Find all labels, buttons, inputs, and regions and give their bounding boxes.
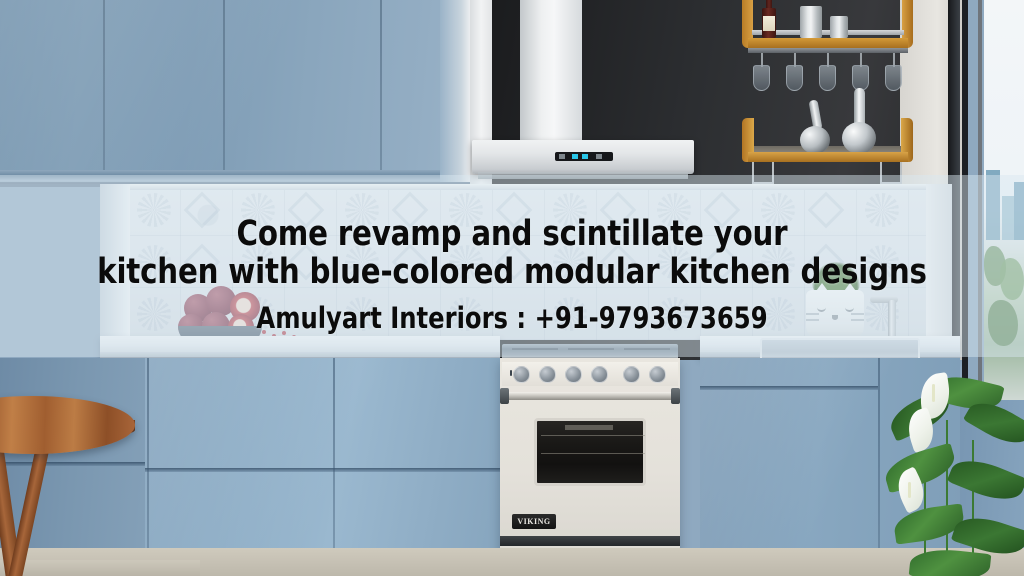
chrome-vase — [842, 122, 876, 154]
kitchen-banner-scene: VIKING Come revamp and scintillate your … — [0, 0, 1024, 576]
metal-canister-small — [830, 16, 848, 38]
shelf-hook — [900, 162, 902, 184]
vase-shelf-board — [748, 152, 908, 162]
viking-badge-text: VIKING — [517, 517, 550, 526]
hood-led-indicator — [596, 154, 602, 159]
burner-knob-mark — [510, 370, 512, 376]
upper-cabinets[interactable] — [0, 0, 470, 182]
headline-line-1: Come revamp and scintillate your — [36, 216, 988, 252]
burner-knob[interactable] — [591, 366, 608, 383]
contact-line: Amulyart Interiors : +91-9793673659 — [36, 301, 988, 335]
floor-left — [0, 560, 200, 576]
wine-glass — [885, 65, 902, 91]
viking-brand-badge: VIKING — [512, 514, 556, 529]
wine-glass — [753, 65, 770, 91]
oven-door-handle[interactable] — [500, 392, 680, 400]
chrome-vase — [800, 126, 830, 154]
window-mullion-dark — [962, 0, 968, 400]
handle-end-cap-left — [500, 388, 509, 404]
window-mullion — [978, 0, 982, 400]
wine-bottle-label — [763, 16, 775, 31]
handle-end-cap-right — [671, 388, 680, 404]
headline-line-2: kitchen with blue-colored modular kitche… — [36, 254, 988, 290]
burner-knob[interactable] — [539, 366, 556, 383]
backsplash-top-ledge — [128, 184, 928, 190]
range-hood-chimney — [520, 0, 582, 140]
oven-bottom-drawer-gap — [500, 536, 680, 546]
hood-led-indicator — [572, 154, 578, 159]
burner-knob[interactable] — [623, 366, 640, 383]
hood-led-indicator — [582, 154, 588, 159]
shelf-hook — [880, 162, 882, 184]
cabinet-end-panel — [440, 0, 470, 182]
wine-shelf-board — [748, 38, 908, 48]
oven-door-window — [534, 418, 646, 486]
range-hood-lip — [478, 172, 688, 179]
shelf-hook — [752, 162, 754, 184]
metal-canister-large — [800, 6, 822, 38]
wine-glass — [786, 65, 803, 91]
lower-cabinet-center[interactable] — [145, 358, 500, 576]
shelf-hook — [772, 162, 774, 184]
burner-knob[interactable] — [649, 366, 666, 383]
burner-knob[interactable] — [565, 366, 582, 383]
hood-led-indicator — [559, 154, 565, 159]
wine-glass — [819, 65, 836, 91]
burner-knob[interactable] — [513, 366, 530, 383]
banner-text-block: Come revamp and scintillate your kitchen… — [0, 216, 1024, 335]
peace-lily-plant — [880, 360, 1024, 576]
